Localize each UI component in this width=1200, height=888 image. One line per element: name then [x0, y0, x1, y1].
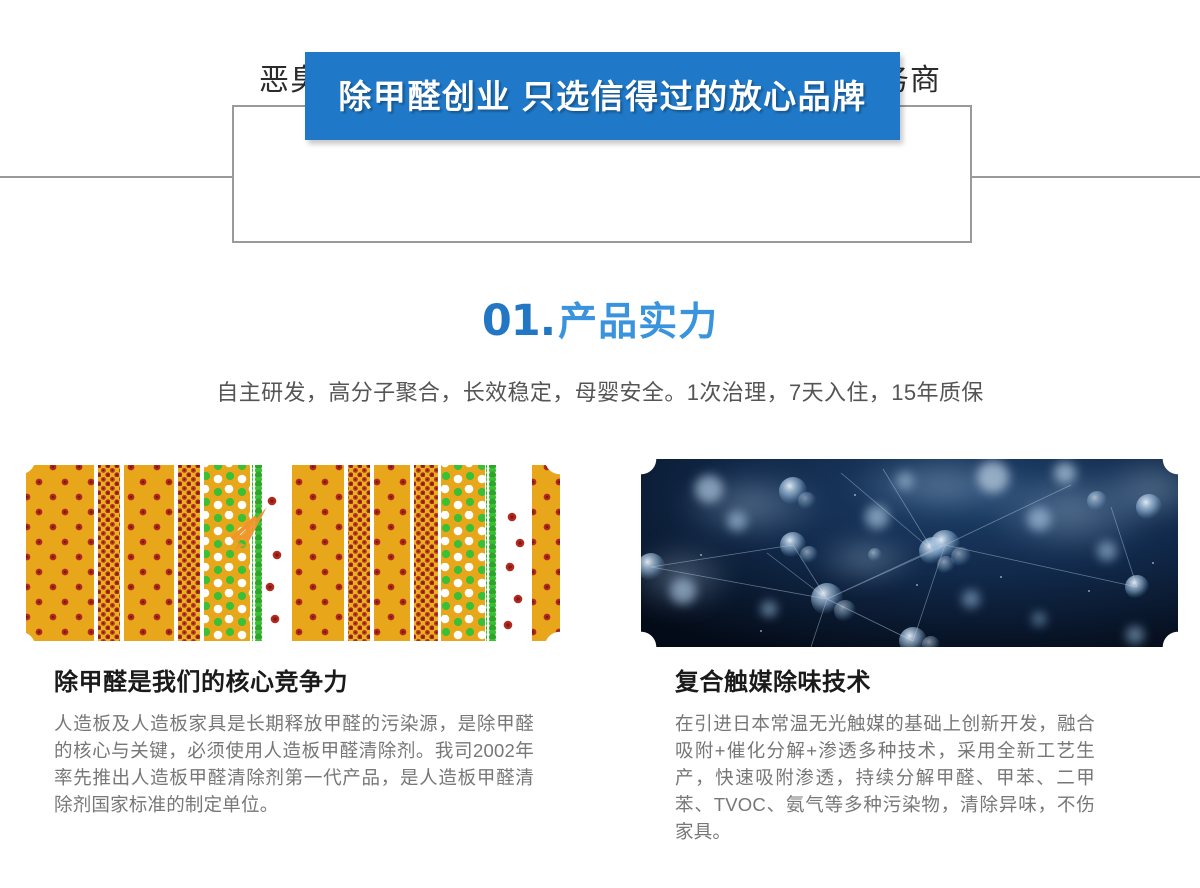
header-rule-right: [971, 176, 1200, 178]
card-title: 复合触媒除味技术: [675, 669, 1178, 698]
section-number: 01.: [482, 296, 555, 346]
header-banner-text: 除甲醛创业 只选信得过的放心品牌: [338, 80, 866, 113]
card-body: 在引进日本常温无光触媒的基础上创新开发，融合吸附+催化分解+渗透多种技术，采用全…: [675, 710, 1095, 845]
board-layer-diffusion-svg: [20, 459, 560, 647]
section-subtitle: 自主研发，高分子聚合，长效稳定，母婴安全。1次治理，7天入住，15年质保: [0, 375, 1200, 407]
molecular-network-photo: [641, 459, 1178, 647]
molecular-network-svg: [641, 459, 1178, 647]
card-title: 除甲醛是我们的核心竞争力: [54, 669, 560, 698]
section-heading: 01.产品实力: [0, 300, 1200, 343]
board-layer-diffusion-illustration: [20, 459, 560, 647]
page-header: 恶臭气体污染净化消除获奖品牌、奥运场馆服务商 除甲醛创业 只选信得过的放心品牌: [0, 0, 1200, 270]
feature-card-list: 除甲醛是我们的核心竞争力 人造板及人造板家具是长期释放甲醛的污染源，是除甲醛的核…: [0, 459, 1200, 845]
feature-card-catalyst-tech: 复合触媒除味技术 在引进日本常温无光触媒的基础上创新开发，融合吸附+催化分解+渗…: [641, 459, 1178, 845]
header-blue-banner: 除甲醛创业 只选信得过的放心品牌: [305, 52, 900, 140]
header-rule-left: [0, 176, 233, 178]
feature-card-product-core: 除甲醛是我们的核心竞争力 人造板及人造板家具是长期释放甲醛的污染源，是除甲醛的核…: [20, 459, 560, 845]
section-title: 产品实力: [558, 301, 718, 344]
card-body: 人造板及人造板家具是长期释放甲醛的污染源，是除甲醛的核心与关键，必须使用人造板甲…: [54, 710, 534, 818]
